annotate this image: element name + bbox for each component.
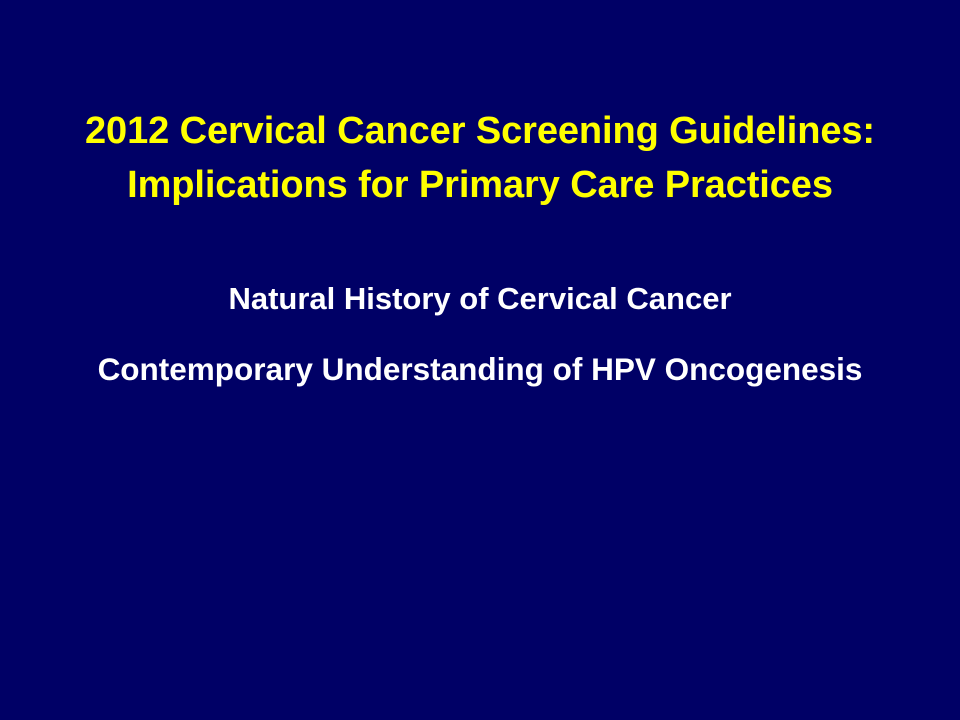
slide-subtitle-line-2: Contemporary Understanding of HPV Oncoge… (0, 348, 960, 390)
slide-subtitle: Natural History of Cervical Cancer Conte… (0, 278, 960, 390)
presentation-slide: 2012 Cervical Cancer Screening Guideline… (0, 0, 960, 720)
slide-body-empty-area (0, 410, 960, 720)
slide-title-line-2: Implications for Primary Care Practices (0, 158, 960, 212)
slide-title: 2012 Cervical Cancer Screening Guideline… (0, 104, 960, 212)
slide-subtitle-line-1: Natural History of Cervical Cancer (0, 278, 960, 320)
slide-title-line-1: 2012 Cervical Cancer Screening Guideline… (0, 104, 960, 158)
